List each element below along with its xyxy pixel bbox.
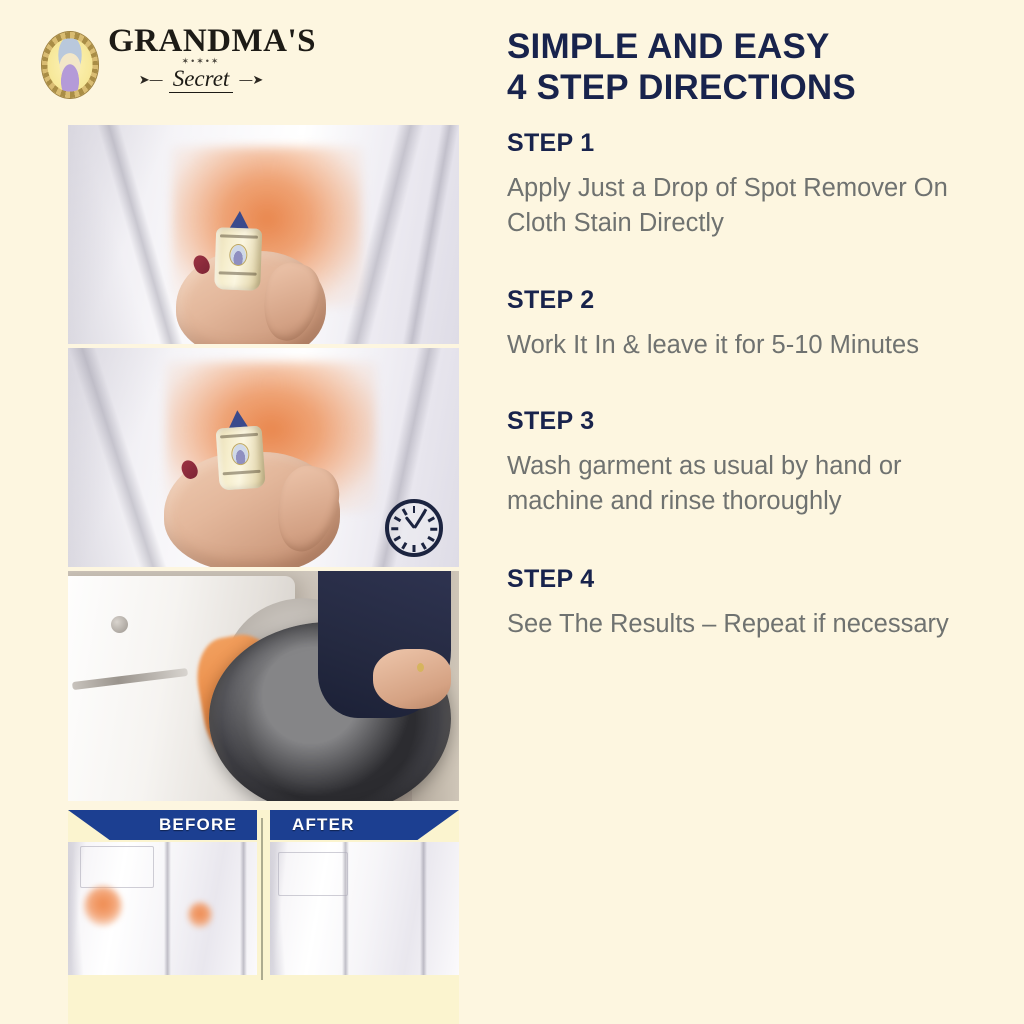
- step-1-body: Apply Just a Drop of Spot Remover On Clo…: [507, 171, 1000, 241]
- step-4-body: See The Results – Repeat if necessary: [507, 607, 1000, 642]
- pants-pocket: [80, 846, 154, 888]
- headline-line-1: SIMPLE AND EASY: [507, 26, 1000, 67]
- bottle-label-portrait-icon: [229, 244, 248, 267]
- after-half: AFTER: [270, 810, 459, 1024]
- step-1-block: STEP 1 Apply Just a Drop of Spot Remover…: [507, 129, 1000, 241]
- before-half: BEFORE: [68, 810, 257, 1024]
- spot-remover-bottle: [214, 409, 266, 494]
- instructions-column: SIMPLE AND EASY 4 STEP DIRECTIONS STEP 1…: [495, 0, 1024, 1024]
- step-3-title: STEP 3: [507, 407, 1000, 436]
- step-2-photo: [68, 348, 459, 567]
- bottle-label-line: [219, 271, 257, 275]
- left-media-column: GRANDMA'S ✶•✶•✶ ➤— Secret —➤: [0, 0, 480, 1024]
- logo-wordmark: GRANDMA'S ✶•✶•✶ ➤— Secret —➤: [108, 24, 294, 93]
- step-2-body: Work It In & leave it for 5-10 Minutes: [507, 328, 1000, 363]
- after-photo: [270, 842, 459, 975]
- step-3-photo: [68, 571, 459, 801]
- after-label: AFTER: [292, 815, 355, 835]
- photo-stack: [68, 125, 459, 805]
- headline-line-2: 4 STEP DIRECTIONS: [507, 67, 1000, 108]
- washer-knob: [111, 616, 128, 633]
- step-3-block: STEP 3 Wash garment as usual by hand or …: [507, 407, 1000, 519]
- step-1-title: STEP 1: [507, 129, 1000, 158]
- washer-trim: [72, 668, 188, 690]
- brand-logo: GRANDMA'S ✶•✶•✶ ➤— Secret —➤: [42, 24, 292, 102]
- logo-flourish-left-icon: ➤—: [139, 73, 163, 86]
- logo-name-bottom: Secret: [169, 67, 234, 93]
- bottle-body: [214, 227, 262, 291]
- bottle-label-portrait-icon: [231, 442, 250, 465]
- clock-icon: [385, 499, 443, 557]
- step-2-title: STEP 2: [507, 286, 1000, 315]
- after-ribbon: AFTER: [270, 810, 459, 840]
- comparison-divider: [261, 818, 263, 980]
- before-label: BEFORE: [159, 815, 237, 835]
- step-4-title: STEP 4: [507, 565, 1000, 594]
- pants-seam: [164, 842, 171, 975]
- clock-minute-hand: [413, 510, 426, 528]
- page-title: SIMPLE AND EASY 4 STEP DIRECTIONS: [507, 26, 1000, 109]
- spot-remover-bottle: [214, 210, 263, 294]
- stain-mark: [84, 886, 122, 926]
- stain-mark: [188, 902, 212, 928]
- logo-flourish-right-icon: —➤: [239, 73, 263, 86]
- pants-seam: [420, 842, 427, 975]
- logo-secret-row: ➤— Secret —➤: [108, 67, 294, 93]
- bottle-body: [216, 426, 266, 491]
- pants-pocket: [278, 852, 348, 896]
- step-2-block: STEP 2 Work It In & leave it for 5-10 Mi…: [507, 286, 1000, 363]
- before-after-comparison: BEFORE AFTER: [68, 810, 459, 1024]
- before-ribbon: BEFORE: [68, 810, 257, 840]
- bottle-label-line: [220, 234, 258, 238]
- step-3-body: Wash garment as usual by hand or machine…: [507, 449, 1000, 519]
- logo-name-top: GRANDMA'S: [108, 24, 294, 59]
- pants-seam: [240, 842, 247, 975]
- bottle-label-line: [223, 470, 261, 476]
- grandma-portrait-icon: [42, 32, 98, 98]
- before-photo: [68, 842, 257, 975]
- step-4-block: STEP 4 See The Results – Repeat if neces…: [507, 565, 1000, 642]
- person-hand: [373, 649, 451, 709]
- laundry-room-scene: [68, 571, 459, 801]
- step-1-photo: [68, 125, 459, 344]
- bottle-label-line: [220, 433, 258, 439]
- ring: [417, 663, 424, 672]
